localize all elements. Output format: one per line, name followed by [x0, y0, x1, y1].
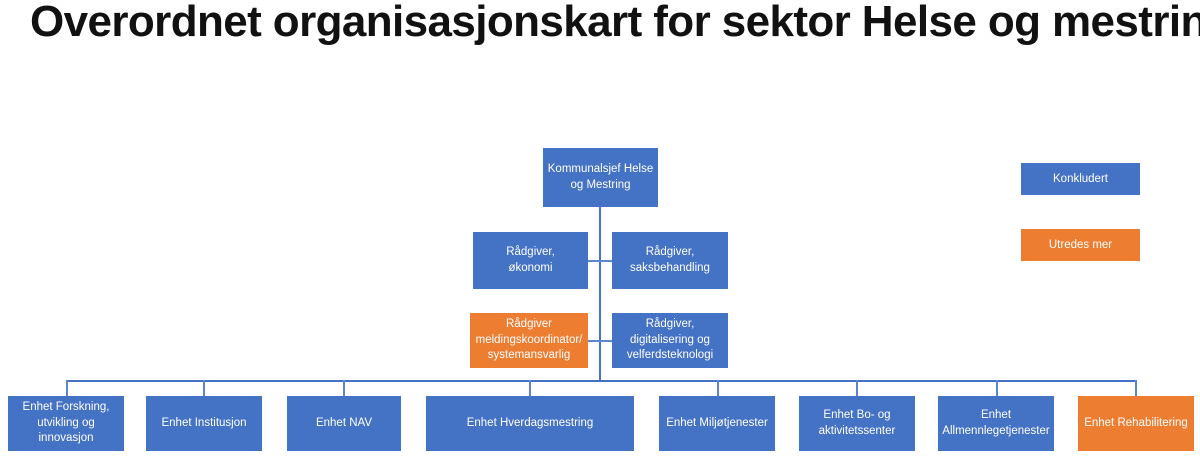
node-enhet-bo-og-aktivitetssenter-line1: Enhet Bo- og — [819, 408, 896, 424]
node-enhet-bo-og-aktivitetssenter-line2: aktivitetssenter — [819, 424, 896, 440]
connector-bottom-rail — [66, 380, 1136, 382]
node-radgiver-meldingskoordinator-line1: Rådgiver — [476, 317, 583, 333]
node-radgiver-okonomi-line1: Rådgiver, — [506, 245, 555, 261]
legend-utredes-mer-label: Utredes mer — [1049, 239, 1112, 251]
connector-to-radgiver-saksbehandling — [599, 260, 613, 262]
node-kommunalsjef-line1: Kommunalsjef Helse — [548, 162, 653, 178]
node-radgiver-meldingskoordinator-line3: systemansvarlig — [476, 348, 583, 364]
node-enhet-institusjon-line1: Enhet Institusjon — [161, 416, 246, 432]
node-enhet-allmennlegetjenester-line2: Allmennlegetjenester — [942, 424, 1049, 440]
node-radgiver-meldingskoordinator-line2: meldingskoordinator/ — [476, 333, 583, 349]
connector-drop-enhet-rehabilitering — [1135, 380, 1137, 397]
connector-drop-enhet-hverdagsmestring — [529, 380, 531, 397]
node-enhet-miljotjenester-line1: Enhet Miljøtjenester — [666, 416, 768, 432]
node-radgiver-digitalisering[interactable]: Rådgiver, digitalisering og velferdstekn… — [612, 313, 728, 368]
node-radgiver-digitalisering-line2: digitalisering og — [627, 333, 713, 349]
node-enhet-nav-line1: Enhet NAV — [316, 416, 372, 432]
node-radgiver-digitalisering-line1: Rådgiver, — [627, 317, 713, 333]
page-title: Overordnet organisasjonskart for sektor … — [30, 0, 1170, 46]
node-enhet-hverdagsmestring[interactable]: Enhet Hverdagsmestring — [426, 396, 634, 451]
node-enhet-allmennlegetjenester[interactable]: Enhet Allmennlegetjenester — [938, 396, 1054, 451]
legend-utredes-mer[interactable]: Utredes mer — [1021, 229, 1140, 261]
node-radgiver-saksbehandling-line1: Rådgiver, — [630, 245, 710, 261]
node-kommunalsjef[interactable]: Kommunalsjef Helse og Mestring — [543, 148, 658, 207]
node-enhet-institusjon[interactable]: Enhet Institusjon — [146, 396, 262, 451]
node-enhet-hverdagsmestring-line1: Enhet Hverdagsmestring — [467, 416, 594, 432]
node-enhet-forskning-line1: Enhet Forskning, — [23, 400, 110, 416]
connector-drop-enhet-institusjon — [203, 380, 205, 397]
node-enhet-rehabilitering-line1: Enhet Rehabilitering — [1084, 416, 1188, 432]
node-radgiver-okonomi[interactable]: Rådgiver, økonomi — [473, 232, 588, 289]
connector-drop-enhet-forskning — [66, 380, 68, 397]
connector-drop-enhet-miljotjenester — [717, 380, 719, 397]
node-enhet-forskning[interactable]: Enhet Forskning, utvikling og innovasjon — [8, 396, 124, 451]
node-enhet-forskning-line2: utvikling og — [23, 416, 110, 432]
node-enhet-miljotjenester[interactable]: Enhet Miljøtjenester — [659, 396, 775, 451]
connector-to-radgiver-digitalisering — [599, 340, 613, 342]
connector-drop-enhet-allmennlegetjenester — [996, 380, 998, 397]
node-radgiver-saksbehandling[interactable]: Rådgiver, saksbehandling — [612, 232, 728, 289]
legend-konkludert[interactable]: Konkludert — [1021, 163, 1140, 195]
node-enhet-rehabilitering[interactable]: Enhet Rehabilitering — [1078, 396, 1194, 451]
connector-drop-enhet-bo-og-aktivitetssenter — [856, 380, 858, 397]
node-radgiver-digitalisering-line3: velferdsteknologi — [627, 348, 713, 364]
legend-konkludert-label: Konkludert — [1053, 173, 1108, 185]
connector-spine-vertical — [599, 207, 601, 381]
node-enhet-nav[interactable]: Enhet NAV — [287, 396, 401, 451]
node-enhet-forskning-line3: innovasjon — [23, 431, 110, 447]
node-radgiver-saksbehandling-line2: saksbehandling — [630, 261, 710, 277]
org-chart-slide: Overordnet organisasjonskart for sektor … — [0, 0, 1200, 464]
node-radgiver-okonomi-line2: økonomi — [506, 261, 555, 277]
connector-drop-enhet-nav — [343, 380, 345, 397]
node-enhet-allmennlegetjenester-line1: Enhet — [942, 408, 1049, 424]
node-enhet-bo-og-aktivitetssenter[interactable]: Enhet Bo- og aktivitetssenter — [799, 396, 915, 451]
node-kommunalsjef-line2: og Mestring — [548, 178, 653, 194]
node-radgiver-meldingskoordinator[interactable]: Rådgiver meldingskoordinator/ systemansv… — [470, 313, 588, 368]
